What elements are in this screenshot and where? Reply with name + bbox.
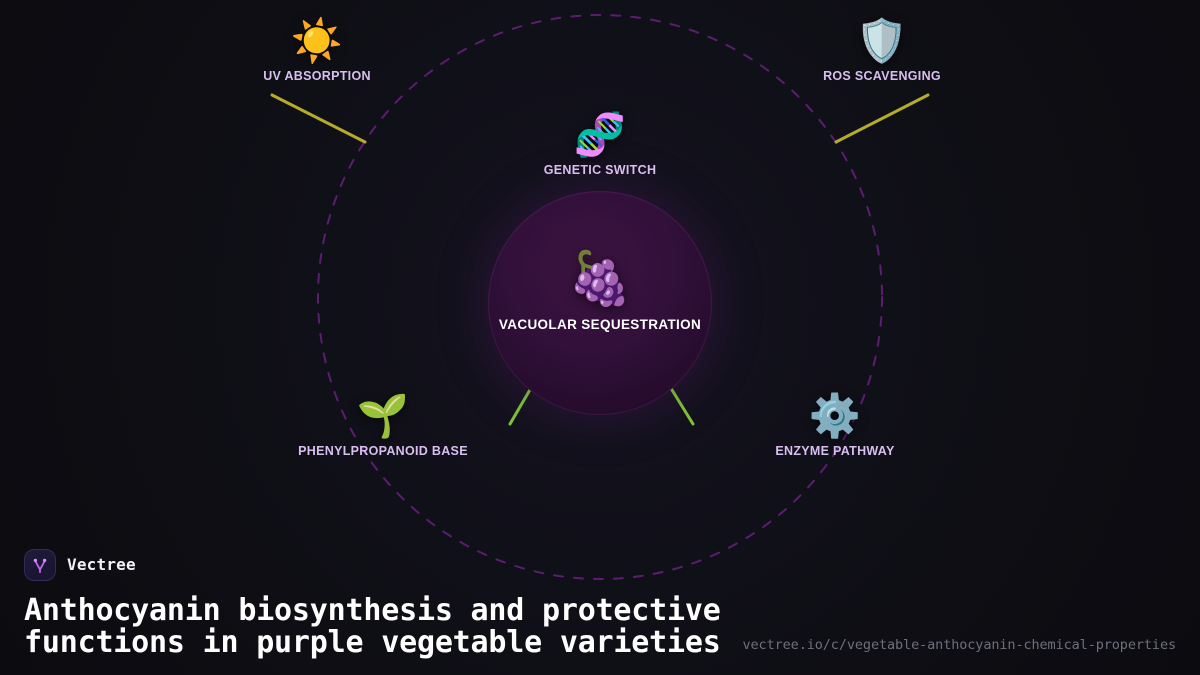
node-label-enzyme-pathway: ENZYME PATHWAY <box>775 444 894 458</box>
node-ros-scavenging[interactable]: 🛡️ ROS SCAVENGING <box>767 20 997 83</box>
node-phenylpropanoid-base[interactable]: 🌱 PHENYLPROPANOID BASE <box>268 395 498 458</box>
edge-uv-absorption <box>272 95 365 142</box>
sun-icon: ☀️ <box>291 20 343 62</box>
footer: Vectree Anthocyanin biosynthesis and pro… <box>0 549 1200 675</box>
node-enzyme-pathway[interactable]: ⚙️ ENZYME PATHWAY <box>720 395 950 458</box>
edge-ros-scavenging <box>836 95 928 142</box>
page-title: Anthocyanin biosynthesis and protective … <box>24 595 724 659</box>
node-label-genetic-switch: GENETIC SWITCH <box>544 163 657 177</box>
grapes-icon: 🍇 <box>568 253 633 305</box>
node-label-phenylpropanoid-base: PHENYLPROPANOID BASE <box>298 444 468 458</box>
seedling-icon: 🌱 <box>357 395 409 437</box>
infographic-canvas: 🍇 VACUOLAR SEQUESTRATION ☀️ UV ABSORPTIO… <box>0 0 1200 675</box>
gear-icon: ⚙️ <box>809 395 861 437</box>
vectree-branch-logo-icon <box>24 549 56 581</box>
brand-name: Vectree <box>67 555 136 574</box>
node-uv-absorption[interactable]: ☀️ UV ABSORPTION <box>202 20 432 83</box>
hub-node-label: VACUOLAR SEQUESTRATION <box>499 317 701 332</box>
dna-icon: 🧬 <box>574 114 626 156</box>
node-genetic-switch[interactable]: 🧬 GENETIC SWITCH <box>485 114 715 177</box>
shield-icon: 🛡️ <box>856 20 908 62</box>
hub-node-vacuolar-sequestration[interactable]: 🍇 VACUOLAR SEQUESTRATION <box>488 191 712 415</box>
node-label-ros-scavenging: ROS SCAVENGING <box>823 69 941 83</box>
brand-lockup[interactable]: Vectree <box>24 549 1176 581</box>
source-url: vectree.io/c/vegetable-anthocyanin-chemi… <box>743 637 1177 653</box>
node-label-uv-absorption: UV ABSORPTION <box>263 69 371 83</box>
